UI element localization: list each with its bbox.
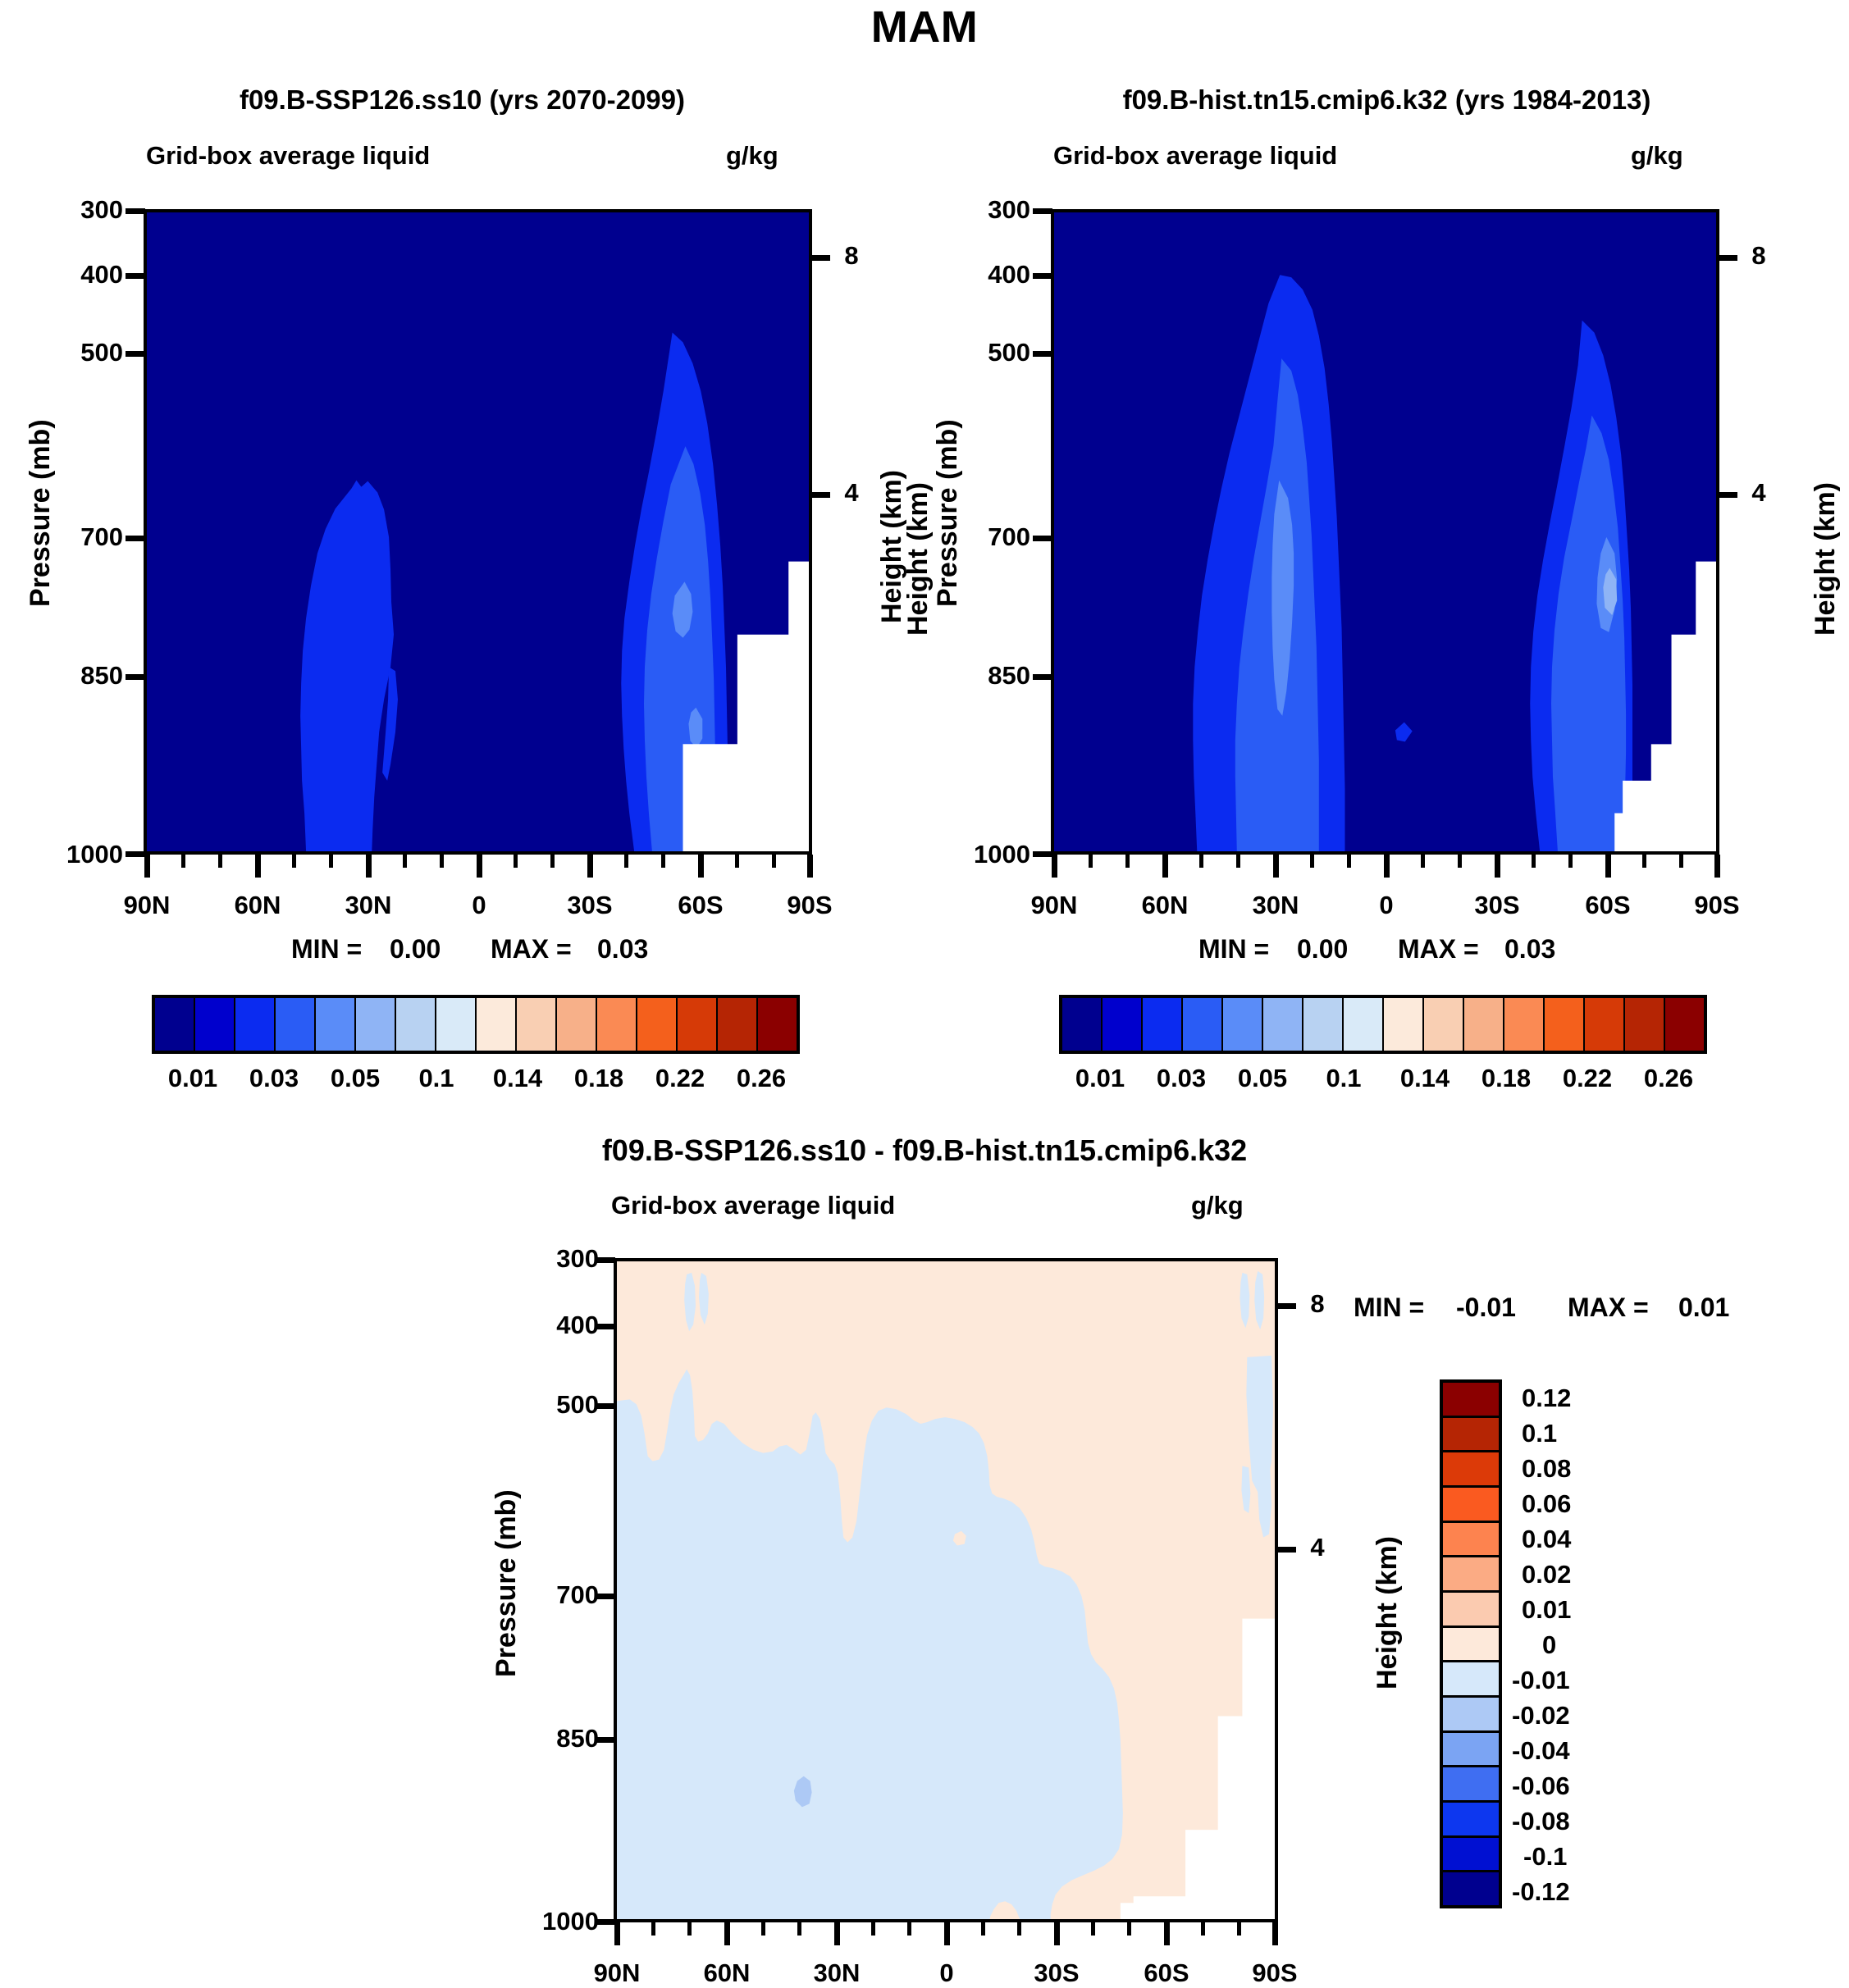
- diff-colorbar-swatch-10: [1443, 1733, 1499, 1768]
- cbdlabel-0: 0.12: [1522, 1384, 1571, 1413]
- y2tick-top-right-8: 8: [1742, 241, 1775, 271]
- colorbar-swatch-13: [678, 998, 718, 1051]
- xtick-top-left-30N: 30N: [315, 891, 422, 920]
- ytick-bottom-300: 300: [500, 1244, 599, 1274]
- xtick-mark: [1273, 855, 1279, 878]
- max-value-top-left: 0.03: [597, 934, 648, 964]
- colorbar-swatch-4: [1223, 998, 1263, 1051]
- xtick-minor: [1568, 855, 1573, 868]
- xtick-mark: [944, 1922, 950, 1945]
- diff-colorbar-swatch-3: [1443, 1488, 1499, 1523]
- ytick-mark: [1033, 851, 1052, 857]
- cbdlabel-14: -0.12: [1512, 1877, 1570, 1907]
- yaxis-title-top-right: Pressure (mb): [932, 419, 964, 607]
- xtick-mark: [1162, 855, 1168, 878]
- xtick-mark: [1384, 855, 1390, 878]
- xtick-mark: [366, 855, 372, 878]
- xtick-top-left-60S: 60S: [647, 891, 754, 920]
- xtick-top-right-90S: 90S: [1664, 891, 1770, 920]
- cbdlabel-9: -0.02: [1512, 1701, 1570, 1730]
- xtick-mark: [698, 855, 704, 878]
- xtick-top-right-30S: 30S: [1444, 891, 1550, 920]
- xtick-top-right-90N: 90N: [1001, 891, 1107, 920]
- xtick-minor: [761, 1922, 765, 1936]
- xtick-minor: [1201, 1922, 1205, 1936]
- xtick-mark: [1052, 855, 1057, 878]
- xtick-minor: [797, 1922, 801, 1936]
- ytick-bottom-500: 500: [500, 1390, 599, 1420]
- y2axis-title-top-left-dup: Height (km): [876, 470, 908, 623]
- ytick-mark: [596, 1737, 615, 1743]
- diff-colorbar-swatch-13: [1443, 1838, 1499, 1873]
- colorbar-absolute-right[interactable]: [1059, 995, 1707, 1054]
- xtick-minor: [735, 855, 739, 868]
- colorbar-swatch-8: [1384, 998, 1424, 1051]
- y2tick-mark: [810, 255, 830, 261]
- min-label-bottom: MIN =: [1354, 1293, 1424, 1323]
- contour-field-bottom: [617, 1261, 1275, 1919]
- xtick-minor: [218, 855, 222, 868]
- colorbar-swatch-5: [356, 998, 396, 1051]
- colorbar-swatch-9: [517, 998, 557, 1051]
- colorbar-swatch-1: [1103, 998, 1143, 1051]
- diff-colorbar-swatch-6: [1443, 1593, 1499, 1628]
- xtick-minor: [624, 855, 628, 868]
- cblabel-right-7: 0.26: [1603, 1064, 1734, 1093]
- colorbar-swatch-12: [1545, 998, 1585, 1051]
- xtick-mark: [1714, 855, 1720, 878]
- diff-colorbar-swatch-7: [1443, 1628, 1499, 1663]
- colorbar-swatch-1: [195, 998, 235, 1051]
- diff-colorbar-swatch-4: [1443, 1523, 1499, 1558]
- y2tick-mark: [1718, 255, 1737, 261]
- xtick-mark: [587, 855, 593, 878]
- xtick-minor: [329, 855, 333, 868]
- panel-title-top-right: f09.B-hist.tn15.cmip6.k32 (yrs 1984-2013…: [924, 84, 1849, 116]
- colorbar-swatch-15: [758, 998, 797, 1051]
- colorbar-swatch-10: [1464, 998, 1504, 1051]
- plot-area-top-right: [1051, 209, 1719, 855]
- min-label-top-right: MIN =: [1198, 934, 1269, 964]
- colorbar-swatch-3: [276, 998, 316, 1051]
- yaxis-title-top-left: Pressure (mb): [25, 419, 57, 607]
- ytick-mark: [1033, 273, 1052, 279]
- panel-subtitle-bottom: Grid-box average liquid: [611, 1191, 895, 1220]
- xtick-mark: [614, 1922, 620, 1945]
- colorbar-swatch-6: [396, 998, 436, 1051]
- cbdlabel-1: 0.1: [1522, 1419, 1557, 1448]
- xtick-minor: [1017, 1922, 1021, 1936]
- colorbar-swatch-3: [1183, 998, 1223, 1051]
- xtick-bottom-90S: 90S: [1221, 1958, 1328, 1988]
- xtick-minor: [403, 855, 407, 868]
- colorbar-swatch-9: [1424, 998, 1464, 1051]
- y2tick-mark: [1276, 1303, 1296, 1309]
- xtick-minor: [1679, 855, 1683, 868]
- colorbar-swatch-11: [1504, 998, 1545, 1051]
- ytick-mark: [126, 273, 145, 279]
- min-value-bottom: -0.01: [1456, 1293, 1516, 1323]
- colorbar-swatch-14: [1625, 998, 1665, 1051]
- xtick-bottom-60S: 60S: [1113, 1958, 1220, 1988]
- cbdlabel-12: -0.08: [1512, 1807, 1570, 1836]
- ytick-mark: [596, 1324, 615, 1329]
- xtick-minor: [1642, 855, 1646, 868]
- xtick-mark: [1605, 855, 1611, 878]
- y2tick-top-right-4: 4: [1742, 478, 1775, 508]
- min-label-top-left: MIN =: [291, 934, 362, 964]
- xtick-mark: [255, 855, 261, 878]
- xtick-mark: [1495, 855, 1500, 878]
- y2tick-top-left-8: 8: [835, 241, 868, 271]
- xtick-top-left-90N: 90N: [94, 891, 200, 920]
- colorbar-swatch-0: [155, 998, 195, 1051]
- xtick-minor: [1310, 855, 1314, 868]
- colorbar-swatch-7: [436, 998, 477, 1051]
- xtick-minor: [687, 1922, 692, 1936]
- xtick-minor: [1236, 855, 1240, 868]
- ytick-mark: [596, 1594, 615, 1599]
- xtick-minor: [907, 1922, 911, 1936]
- ytick-bottom-1000: 1000: [486, 1907, 599, 1936]
- cbdlabel-7: 0: [1542, 1630, 1556, 1660]
- panel-units-bottom: g/kg: [1191, 1191, 1244, 1220]
- panel-subtitle-top-left: Grid-box average liquid: [146, 141, 430, 171]
- xtick-bottom-30S: 30S: [1003, 1958, 1110, 1988]
- ytick-mark: [596, 1257, 615, 1263]
- ytick-top-right-400: 400: [940, 260, 1030, 290]
- xtick-minor: [550, 855, 555, 868]
- diff-colorbar-swatch-5: [1443, 1557, 1499, 1593]
- figure-suptitle: MAM: [0, 2, 1849, 52]
- plot-area-bottom: [614, 1258, 1278, 1922]
- colorbar-swatch-0: [1062, 998, 1103, 1051]
- diff-colorbar-swatch-0: [1443, 1383, 1499, 1418]
- colorbar-swatch-7: [1344, 998, 1384, 1051]
- xtick-minor: [981, 1922, 985, 1936]
- cbdlabel-6: 0.01: [1522, 1595, 1571, 1625]
- colorbar-swatch-2: [235, 998, 276, 1051]
- xtick-minor: [1089, 855, 1093, 868]
- xtick-bottom-60N: 60N: [673, 1958, 780, 1988]
- xtick-mark: [1272, 1922, 1278, 1945]
- colorbar-swatch-15: [1665, 998, 1704, 1051]
- diff-colorbar-swatch-14: [1443, 1872, 1499, 1905]
- colorbar-swatch-2: [1143, 998, 1183, 1051]
- diff-colorbar-swatch-9: [1443, 1698, 1499, 1733]
- cbdlabel-2: 0.08: [1522, 1454, 1571, 1484]
- y2tick-bottom-4: 4: [1301, 1533, 1334, 1562]
- xtick-mark: [1164, 1922, 1170, 1945]
- yaxis-title-bottom: Pressure (mb): [491, 1489, 523, 1677]
- xtick-mark: [1054, 1922, 1060, 1945]
- diff-colorbar-swatch-12: [1443, 1803, 1499, 1838]
- colorbar-swatch-4: [316, 998, 356, 1051]
- xtick-minor: [1091, 1922, 1095, 1936]
- max-label-bottom: MAX =: [1568, 1293, 1649, 1323]
- ytick-mark: [126, 536, 145, 541]
- diff-colorbar-swatch-8: [1443, 1662, 1499, 1698]
- xtick-mark: [724, 1922, 730, 1945]
- ytick-mark: [1033, 674, 1052, 680]
- ytick-top-left-400: 400: [33, 260, 123, 290]
- y2tick-top-left-4: 4: [835, 478, 868, 508]
- xtick-minor: [1421, 855, 1425, 868]
- cbdlabel-3: 0.06: [1522, 1489, 1571, 1519]
- xtick-bottom-90N: 90N: [564, 1958, 670, 1988]
- diff-colorbar-swatch-2: [1443, 1452, 1499, 1488]
- max-label-top-right: MAX =: [1398, 934, 1479, 964]
- cbdlabel-8: -0.01: [1512, 1666, 1570, 1695]
- cbdlabel-5: 0.02: [1522, 1560, 1571, 1589]
- cbdlabel-10: -0.04: [1512, 1736, 1570, 1766]
- colorbar-swatch-14: [718, 998, 758, 1051]
- xtick-top-right-60S: 60S: [1555, 891, 1661, 920]
- plot-area-top-left: [144, 209, 812, 855]
- y2tick-mark: [1718, 492, 1737, 498]
- y2tick-mark: [1276, 1547, 1296, 1553]
- ytick-top-right-500: 500: [940, 338, 1030, 367]
- ytick-mark: [1033, 351, 1052, 357]
- xtick-minor: [1237, 1922, 1241, 1936]
- xtick-minor: [1458, 855, 1462, 868]
- colorbar-swatch-13: [1585, 998, 1625, 1051]
- panel-title-bottom: f09.B-SSP126.ss10 - f09.B-hist.tn15.cmip…: [0, 1133, 1849, 1168]
- ytick-mark: [1033, 208, 1052, 214]
- ytick-mark: [126, 208, 145, 214]
- colorbar-swatch-10: [557, 998, 597, 1051]
- max-value-bottom: 0.01: [1678, 1293, 1729, 1323]
- colorbar-swatch-5: [1263, 998, 1303, 1051]
- xtick-minor: [651, 1922, 655, 1936]
- panel-subtitle-top-right: Grid-box average liquid: [1053, 141, 1337, 171]
- xtick-minor: [181, 855, 185, 868]
- xtick-minor: [1347, 855, 1351, 868]
- ytick-mark: [126, 674, 145, 680]
- xtick-top-left-0: 0: [426, 891, 532, 920]
- xtick-minor: [1125, 855, 1130, 868]
- xtick-minor: [1532, 855, 1536, 868]
- xtick-minor: [772, 855, 776, 868]
- xtick-minor: [871, 1922, 875, 1936]
- ytick-top-left-1000: 1000: [18, 840, 123, 869]
- xtick-mark: [144, 855, 150, 878]
- y2tick-mark: [810, 492, 830, 498]
- xtick-top-right-0: 0: [1333, 891, 1440, 920]
- colorbar-difference[interactable]: [1440, 1379, 1502, 1908]
- colorbar-swatch-6: [1303, 998, 1344, 1051]
- ytick-mark: [596, 1919, 615, 1925]
- cbdlabel-13: -0.1: [1523, 1842, 1567, 1872]
- xtick-top-left-30S: 30S: [536, 891, 643, 920]
- ytick-top-right-1000: 1000: [925, 840, 1030, 869]
- xtick-minor: [514, 855, 518, 868]
- xtick-bottom-30N: 30N: [783, 1958, 890, 1988]
- contour-field-top-right: [1054, 212, 1716, 851]
- ytick-top-left-850: 850: [33, 661, 123, 691]
- xtick-mark: [807, 855, 813, 878]
- ytick-mark: [596, 1403, 615, 1409]
- xtick-mark: [834, 1922, 840, 1945]
- y2tick-bottom-8: 8: [1301, 1289, 1334, 1319]
- xtick-minor: [1199, 855, 1203, 868]
- colorbar-absolute-left[interactable]: [152, 995, 800, 1054]
- colorbar-swatch-11: [597, 998, 637, 1051]
- xtick-minor: [661, 855, 665, 868]
- ytick-mark: [126, 351, 145, 357]
- max-label-top-left: MAX =: [491, 934, 572, 964]
- panel-units-top-right: g/kg: [1631, 141, 1683, 171]
- xtick-minor: [1127, 1922, 1131, 1936]
- xtick-minor: [440, 855, 444, 868]
- ytick-top-left-300: 300: [33, 195, 123, 225]
- panel-title-top-left: f09.B-SSP126.ss10 (yrs 2070-2099): [0, 84, 924, 116]
- xtick-top-left-60N: 60N: [204, 891, 311, 920]
- colorbar-swatch-8: [477, 998, 517, 1051]
- xtick-mark: [477, 855, 482, 878]
- max-value-top-right: 0.03: [1504, 934, 1555, 964]
- y2axis-title-top-right: Height (km): [1810, 482, 1842, 636]
- ytick-mark: [1033, 536, 1052, 541]
- y2axis-title-bottom: Height (km): [1372, 1536, 1404, 1689]
- colorbar-swatch-12: [637, 998, 678, 1051]
- xtick-top-right-30N: 30N: [1222, 891, 1329, 920]
- xtick-top-left-90S: 90S: [756, 891, 863, 920]
- cbdlabel-4: 0.04: [1522, 1525, 1571, 1554]
- diff-colorbar-swatch-1: [1443, 1418, 1499, 1453]
- ytick-top-right-300: 300: [940, 195, 1030, 225]
- ytick-mark: [126, 851, 145, 857]
- panel-units-top-left: g/kg: [726, 141, 778, 171]
- ytick-bottom-400: 400: [500, 1311, 599, 1340]
- min-value-top-right: 0.00: [1297, 934, 1348, 964]
- cblabel-left-7: 0.26: [696, 1064, 827, 1093]
- diff-colorbar-swatch-11: [1443, 1767, 1499, 1803]
- xtick-top-right-60N: 60N: [1112, 891, 1218, 920]
- contour-field-top-left: [147, 212, 809, 851]
- ytick-bottom-850: 850: [500, 1724, 599, 1753]
- xtick-bottom-0: 0: [893, 1958, 1000, 1988]
- ytick-top-left-500: 500: [33, 338, 123, 367]
- ytick-top-right-850: 850: [940, 661, 1030, 691]
- min-value-top-left: 0.00: [390, 934, 441, 964]
- cbdlabel-11: -0.06: [1512, 1771, 1570, 1801]
- xtick-minor: [292, 855, 296, 868]
